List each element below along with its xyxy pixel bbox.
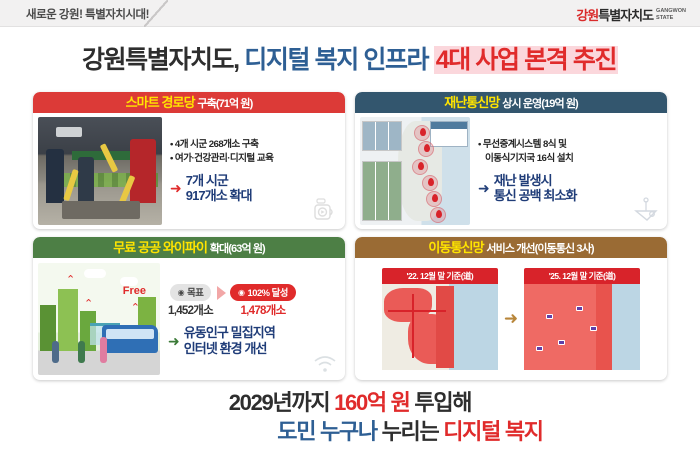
page-title: 강원특별자치도, 디지털 복지 인프라 4대 사업 본격 추진: [0, 40, 700, 76]
footer-l1-dark-a: 2029년까지: [229, 390, 330, 415]
footer-message: 2029년까지 160억 원 투입해 도민 누구나 누리는 디지털 복지: [0, 388, 700, 446]
card-3-conclusion-text: 유동인구 밀집지역 인터넷 환경 개선: [184, 325, 275, 356]
free-label-text: Free: [123, 285, 146, 297]
card-3-stat-pills: ◉ 목표 1,452개소 ◉ 102% 달성 1,478개소: [168, 282, 340, 318]
footer-line-1: 2029년까지 160억 원 투입해: [0, 388, 700, 417]
footer-line-2: 도민 누구나 누리는 디지털 복지: [0, 417, 700, 446]
map-marker-icon: [536, 346, 543, 351]
photo-thumbnails-row: [362, 121, 402, 151]
map-after-label: '25. 12월 말 기준(道): [524, 268, 640, 284]
map-pin-icon: [430, 207, 446, 223]
smart-speaker-robot-icon: [311, 197, 337, 223]
map-arrow-right-icon: ➜: [504, 309, 518, 329]
tagline-text: 새로운 강원! 특별자치시대!: [26, 6, 149, 22]
map-marker-icon: [576, 306, 583, 311]
map-marker-icon: [558, 340, 565, 345]
footer-l1-red: 160억 원: [334, 390, 410, 415]
card-2-header-rest: 상시 운영(19억 원): [502, 98, 578, 110]
achieved-pill: ◉ 102% 달성: [230, 284, 296, 301]
title-part-blue: 디지털 복지 인프라: [244, 46, 428, 74]
map-pin-icon: [412, 159, 428, 175]
footer-l1-dark-b: 투입해: [414, 390, 471, 415]
card-3-header-highlight: 무료 공공 와이파이: [113, 240, 207, 255]
wifi-icon: ⌃: [66, 273, 75, 286]
map-marker-icon: [546, 314, 553, 319]
coverage-map-before-image: [382, 284, 498, 370]
card-4-body: '22. 12월 말 기준(道) ➜ '25. 12월 말 기준(道): [355, 258, 667, 380]
top-bar: 새로운 강원! 특별자치시대! 강원특별자치도 GANGWON STATE: [0, 0, 700, 27]
title-part-dark: 강원특별자치도,: [82, 46, 239, 74]
arrow-right-icon: ➜: [168, 334, 180, 348]
card-2-header-highlight: 재난통신망: [444, 95, 499, 110]
person-shape: [78, 157, 94, 203]
goal-label: 목표: [187, 285, 203, 299]
floor-mat-shape: [62, 201, 140, 219]
person-shape: [130, 139, 156, 203]
achieved-value: 1,478개소: [230, 302, 296, 318]
footer-l2-blue: 도민 누구나: [277, 419, 377, 444]
map-marker-icon: [590, 326, 597, 331]
infographic-page: 새로운 강원! 특별자치시대! 강원특별자치도 GANGWON STATE 강원…: [0, 0, 700, 467]
progress-arrow-icon: [217, 286, 226, 300]
bus-shape: [102, 325, 158, 353]
road-line-shape: [412, 294, 414, 358]
coverage-map-after: '25. 12월 말 기준(道): [524, 268, 640, 370]
map-legend: [430, 121, 468, 147]
card-4-header-rest: 서비스 개선(이동통신 3사): [486, 243, 593, 255]
card-2-conclusion-text: 재난 발생시 통신 공백 최소화: [494, 173, 577, 204]
person-shape: [46, 149, 64, 203]
wifi-icon: ◉: [238, 288, 244, 297]
logo-wordmark: 강원특별자치도: [576, 5, 653, 24]
building-shape: [58, 289, 78, 351]
logo-english-text: GANGWON STATE: [656, 8, 686, 21]
card-disaster-network[interactable]: 재난통신망 상시 운영(19억 원) • 무선중계시스템 8식 및 이동식기지국…: [355, 92, 667, 229]
disaster-network-coverage-map: [360, 117, 470, 225]
map-before-label: '22. 12월 말 기준(道): [382, 268, 498, 284]
card-smart-senior-center[interactable]: 스마트 경로당 구축(71억 원) • 4개 시군 268개소 구축 • 여가·…: [33, 92, 345, 229]
logo-rest-text: 특별자치도: [598, 8, 653, 23]
senior-center-exercise-photo: [38, 117, 162, 225]
card-1-header: 스마트 경로당 구축(71억 원): [33, 92, 345, 113]
card-3-conclusion: ➜ 유동인구 밀집지역 인터넷 환경 개선: [168, 325, 340, 356]
footer-l2-dark: 누리는: [382, 419, 439, 444]
card-2-bullet-1: • 무선중계시스템 8식 및: [478, 138, 662, 152]
wifi-icon: ◉: [178, 288, 184, 297]
card-free-public-wifi[interactable]: 무료 공공 와이파이 확대(63억 원) Free ⌃ ⌃ ⌃: [33, 237, 345, 380]
achieved-stat: ◉ 102% 달성 1,478개소: [230, 282, 296, 318]
card-2-header: 재난통신망 상시 운영(19억 원): [355, 92, 667, 113]
goal-value: 1,452개소: [168, 302, 213, 318]
achieved-label: 102% 달성: [248, 285, 288, 299]
card-4-header-highlight: 이동통신망: [428, 240, 483, 255]
title-part-red: 4대 사업 본격 추진: [434, 46, 618, 74]
card-4-header: 이동통신망 서비스 개선(이동통신 3사): [355, 237, 667, 258]
road-line-shape: [388, 310, 446, 312]
coverage-comparison: '22. 12월 말 기준(道) ➜ '25. 12월 말 기준(道): [360, 263, 662, 375]
card-2-bullet-2: 이동식기지국 16식 설치: [478, 152, 662, 166]
coverage-area-shape: [436, 286, 454, 368]
gangwon-logo: 강원특별자치도 GANGWON STATE: [576, 5, 686, 24]
map-pin-icon: [418, 141, 434, 157]
wifi-icon: ⌃: [84, 297, 93, 310]
arrow-right-icon: ➜: [478, 181, 490, 195]
ceiling-unit-shape: [56, 127, 82, 137]
map-pin-icon: [426, 191, 442, 207]
footer-l2-red: 디지털 복지: [443, 419, 543, 444]
pedestrian-shape: [52, 341, 59, 363]
wifi-icon: [313, 354, 337, 374]
card-1-header-highlight: 스마트 경로당: [126, 95, 195, 110]
card-3-header: 무료 공공 와이파이 확대(63억 원): [33, 237, 345, 258]
goal-stat: ◉ 목표 1,452개소: [168, 282, 213, 318]
coverage-map-before: '22. 12월 말 기준(道): [382, 268, 498, 370]
card-1-bullet-1: • 4개 시군 268개소 구축: [170, 138, 340, 152]
card-mobile-network-service[interactable]: 이동통신망 서비스 개선(이동통신 3사) '22. 12월 말 기준(道) ➜: [355, 237, 667, 380]
card-2-body: • 무선중계시스템 8식 및 이동식기지국 16식 설치 ➜ 재난 발생시 통신…: [355, 113, 667, 229]
coverage-map-after-image: [524, 284, 640, 370]
card-1-conclusion-text: 7개 시군 917개소 확대: [186, 173, 252, 204]
pedestrian-shape: [100, 337, 107, 363]
cloud-shape: [84, 269, 106, 278]
sea-area-shape: [449, 284, 498, 370]
free-public-wifi-city-illustration: Free ⌃ ⌃ ⌃: [38, 263, 160, 375]
card-1-header-rest: 구축(71억 원): [197, 98, 252, 110]
card-1-bullet-2: • 여가·건강관리·디지털 교육: [170, 152, 340, 166]
card-1-body: • 4개 시군 268개소 구축 • 여가·건강관리·디지털 교육 ➜ 7개 시…: [33, 113, 345, 229]
map-pin-icon: [414, 125, 430, 141]
pedestrian-shape: [78, 341, 85, 363]
card-3-header-rest: 확대(63억 원): [210, 243, 265, 255]
arrow-right-icon: ➜: [170, 181, 182, 195]
photo-thumbnails-grid: [362, 161, 402, 221]
coverage-edge-shape: [596, 284, 612, 370]
logo-accent-text: 강원: [576, 8, 598, 23]
card-3-body: Free ⌃ ⌃ ⌃ ◉ 목표 1,452개소: [33, 258, 345, 380]
goal-pill: ◉ 목표: [170, 284, 212, 301]
wifi-icon: ⌃: [131, 301, 140, 314]
map-pin-icon: [422, 175, 438, 191]
satellite-dish-icon: [633, 197, 659, 223]
